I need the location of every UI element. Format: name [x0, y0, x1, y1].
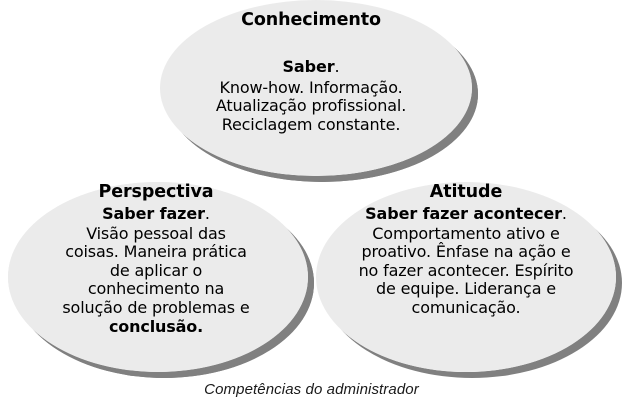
lobe-perspectiva-body-conclusion: conclusão. [8, 318, 304, 337]
lobe-perspectiva-body-line-3: de aplicar o [8, 262, 304, 281]
lobe-perspectiva-body-line-2: coisas. Maneira prática [8, 243, 304, 262]
lobe-atitude-body-line-5: comunicação. [318, 299, 614, 318]
lobe-conhecimento-body-line-1: Know-how. Informação. [161, 79, 461, 98]
lobe-perspectiva-body-line-4: conhecimento na [8, 280, 304, 299]
lobe-atitude-title: Atitude [318, 182, 614, 202]
lobe-perspectiva-text: Perspectiva Saber fazer. Visão pessoal d… [8, 182, 304, 336]
lobe-atitude-text: Atitude Saber fazer acontecer. Comportam… [318, 182, 614, 318]
lobe-conhecimento-title: Conhecimento [161, 10, 461, 30]
lobe-conhecimento-text: Conhecimento Saber. Know-how. Informação… [161, 10, 461, 134]
lobe-perspectiva-body-line-1: Visão pessoal das [8, 225, 304, 244]
lobe-atitude-lead-punct: . [562, 204, 567, 223]
lobe-perspectiva-lead-text: Saber fazer [102, 204, 205, 223]
lobe-perspectiva-body-line-5: solução de problemas e [8, 299, 304, 318]
lobe-conhecimento-body-line-3: Reciclagem constante. [161, 116, 461, 135]
lobe-atitude-body-line-3: no fazer acontecer. Espírito [318, 262, 614, 281]
lobe-atitude-body-line-4: de equipe. Liderança e [318, 280, 614, 299]
lobe-perspectiva-lead-punct: . [205, 204, 210, 223]
lobe-conhecimento-lead-text: Saber [282, 57, 334, 76]
lobe-atitude-lead-text: Saber fazer acontecer [365, 204, 562, 223]
figure-caption: Competências do administrador [0, 381, 623, 398]
lobe-perspectiva-lead: Saber fazer. [8, 205, 304, 224]
lobe-perspectiva-title: Perspectiva [8, 182, 304, 202]
competencies-venn-diagram: Conhecimento Saber. Know-how. Informação… [0, 0, 623, 409]
lobe-atitude-body-line-2: proativo. Ênfase na ação e [318, 243, 614, 262]
lobe-conhecimento-body-line-2: Atualização profissional. [161, 97, 461, 116]
lobe-atitude-lead: Saber fazer acontecer. [318, 205, 614, 224]
lobe-atitude-body-line-1: Comportamento ativo e [318, 225, 614, 244]
lobe-conhecimento-lead-punct: . [335, 57, 340, 76]
lobe-conhecimento-lead: Saber. [161, 58, 461, 77]
